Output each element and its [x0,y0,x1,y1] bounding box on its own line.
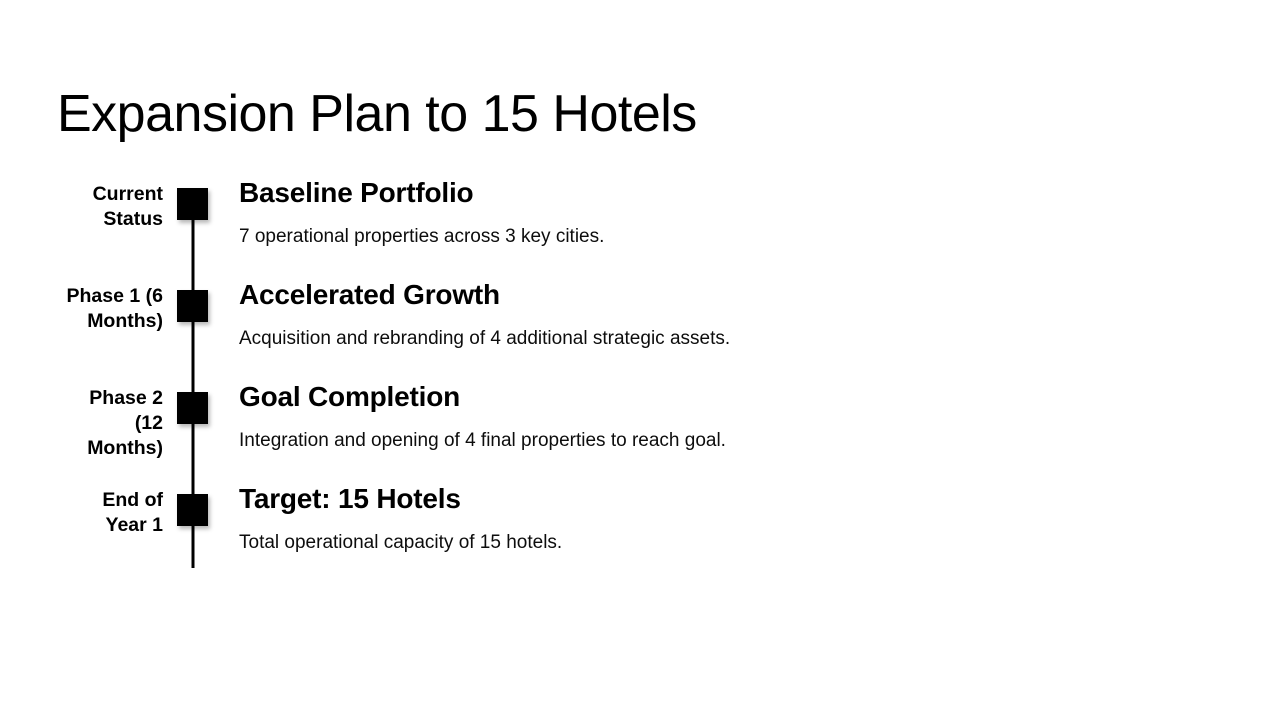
timeline-rail [177,278,208,380]
timeline-period-label: Current Status [57,176,163,232]
timeline-item: Current Status Baseline Portfolio 7 oper… [0,176,1280,278]
timeline-item-description: 7 operational properties across 3 key ci… [239,224,604,250]
timeline-item: Phase 2 (12 Months) Goal Completion Inte… [0,380,1280,482]
timeline-item-description: Total operational capacity of 15 hotels. [239,530,562,556]
timeline-item: End of Year 1 Target: 15 Hotels Total op… [0,482,1280,556]
timeline-item-description: Acquisition and rebranding of 4 addition… [239,326,730,352]
timeline-marker-square [177,188,208,220]
timeline-item-heading: Accelerated Growth [239,278,730,312]
timeline-rail [177,482,208,556]
timeline-marker-square [177,494,208,526]
timeline: Current Status Baseline Portfolio 7 oper… [0,176,1280,556]
timeline-content: Accelerated Growth Acquisition and rebra… [239,278,730,352]
timeline-item: Phase 1 (6 Months) Accelerated Growth Ac… [0,278,1280,380]
timeline-rail [177,380,208,482]
page-title: Expansion Plan to 15 Hotels [57,85,697,143]
timeline-period-label: Phase 2 (12 Months) [57,380,163,461]
timeline-content: Target: 15 Hotels Total operational capa… [239,482,562,556]
timeline-marker-square [177,392,208,424]
timeline-period-label: Phase 1 (6 Months) [57,278,163,334]
timeline-item-heading: Baseline Portfolio [239,176,604,210]
slide-canvas: Expansion Plan to 15 Hotels Current Stat… [0,0,1280,720]
timeline-content: Goal Completion Integration and opening … [239,380,726,454]
timeline-period-label: End of Year 1 [57,482,163,538]
timeline-marker-square [177,290,208,322]
timeline-item-description: Integration and opening of 4 final prope… [239,428,726,454]
timeline-rail [177,176,208,278]
timeline-content: Baseline Portfolio 7 operational propert… [239,176,604,250]
timeline-item-heading: Target: 15 Hotels [239,482,562,516]
timeline-item-heading: Goal Completion [239,380,726,414]
